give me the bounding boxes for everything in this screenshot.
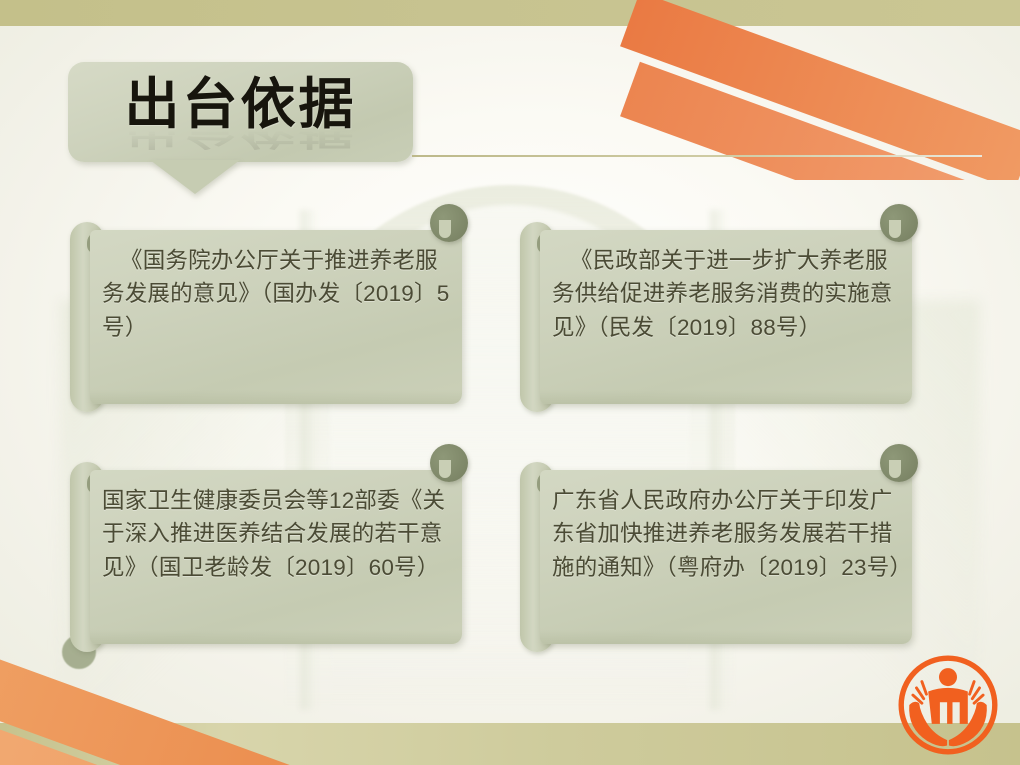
policy-card-text: 《国务院办公厅关于推进养老服务发展的意见》（国办发〔2019〕5号） <box>102 244 452 394</box>
scroll-roll-icon <box>430 444 468 482</box>
policy-card-text: 国家卫生健康委员会等12部委《关于深入推进医养结合发展的若干意见》（国卫老龄发〔… <box>102 484 452 634</box>
title-bubble-tail <box>150 160 240 194</box>
title-bubble: 出台依据 出台依据 <box>68 62 413 162</box>
scroll-roll-icon <box>880 204 918 242</box>
policy-card-1[interactable]: 《国务院办公厅关于推进养老服务发展的意见》（国办发〔2019〕5号） <box>62 222 462 412</box>
scroll-roll-icon <box>430 204 468 242</box>
policy-card-text: 广东省人民政府办公厅关于印发广东省加快推进养老服务发展若干措施的通知》（粤府办〔… <box>552 484 902 634</box>
elderly-care-emblem-icon <box>894 651 1002 759</box>
policy-card-2[interactable]: 《民政部关于进一步扩大养老服务供给促进养老服务消费的实施意见》（民发〔2019〕… <box>512 222 912 412</box>
top-right-diagonal-stripes <box>590 0 1020 180</box>
scroll-roll-icon <box>880 444 918 482</box>
header-divider-line <box>412 155 982 157</box>
slide-canvas: 出台依据 出台依据 《国务院办公厅关于推进养老服务发展的意见》（国办发〔2019… <box>0 0 1020 765</box>
policy-card-text: 《民政部关于进一步扩大养老服务供给促进养老服务消费的实施意见》（民发〔2019〕… <box>552 244 902 394</box>
policy-card-4[interactable]: 广东省人民政府办公厅关于印发广东省加快推进养老服务发展若干措施的通知》（粤府办〔… <box>512 462 912 652</box>
policy-card-3[interactable]: 国家卫生健康委员会等12部委《关于深入推进医养结合发展的若干意见》（国卫老龄发〔… <box>62 462 462 652</box>
page-title: 出台依据 <box>68 76 413 134</box>
